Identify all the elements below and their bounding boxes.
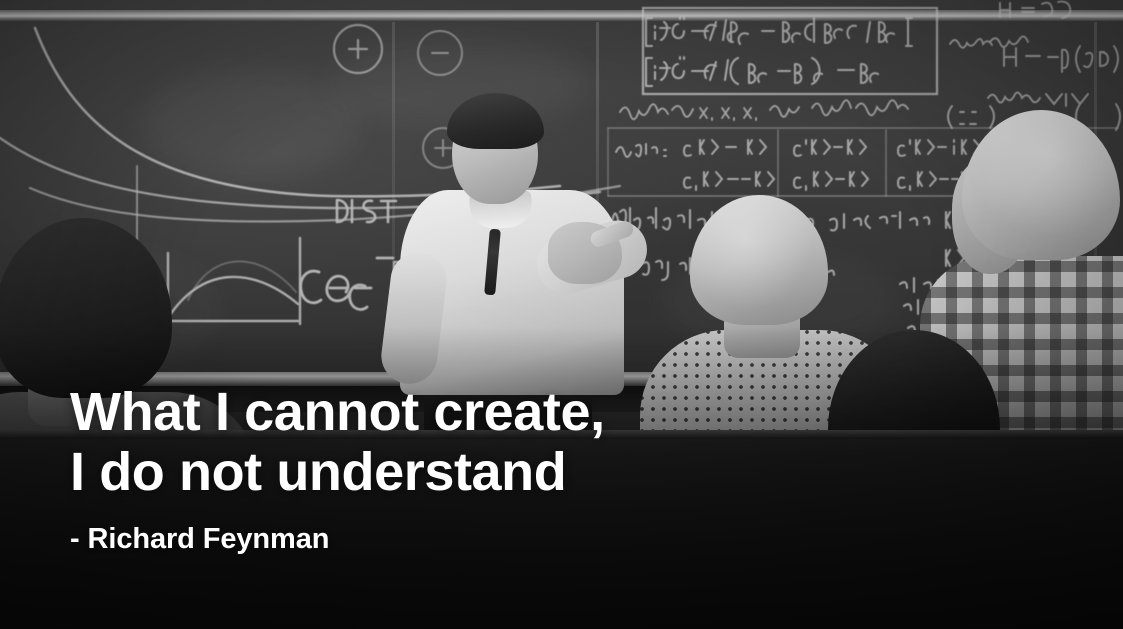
quote-line-2: I do not understand: [70, 442, 790, 502]
quote-attribution: - Richard Feynman: [70, 522, 790, 556]
quote-card: What I cannot create, I do not understan…: [0, 0, 1123, 629]
quote-line-1: What I cannot create,: [70, 382, 790, 442]
quote-block: What I cannot create, I do not understan…: [70, 382, 790, 556]
